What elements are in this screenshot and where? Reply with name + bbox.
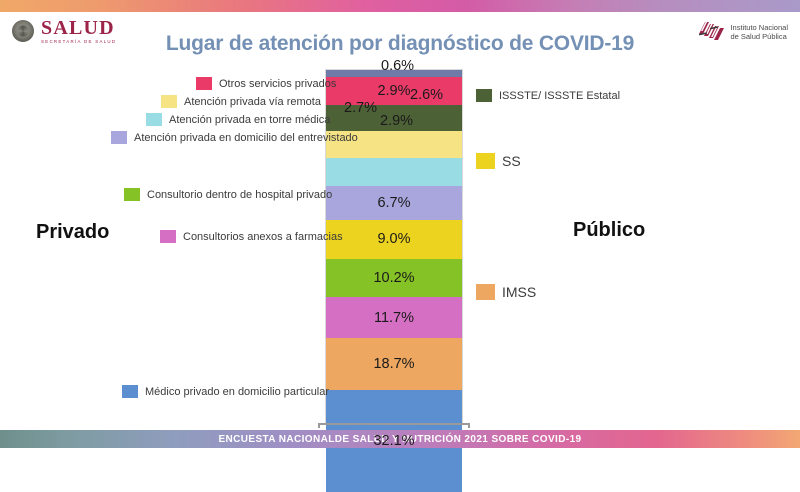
legend-swatch-atencion-remota xyxy=(161,95,177,108)
axis-baseline xyxy=(318,423,470,425)
legend-swatch-ss xyxy=(476,153,495,169)
legend-swatch-issste xyxy=(476,89,492,102)
bar-value-imss: 18.7% xyxy=(373,356,414,372)
legend-label-imss: IMSS xyxy=(502,284,536,300)
bar-segment-imss[interactable]: 18.7% xyxy=(326,338,462,389)
legend-swatch-hospital-privado xyxy=(124,188,140,201)
bar-value-medico-privado-domicilio: 32.1% xyxy=(373,433,414,449)
bar-segment-hospital-privado[interactable]: 10.2% xyxy=(326,259,462,298)
bar-value-anexos-farmacias: 11.7% xyxy=(374,310,414,326)
top-gradient-strip xyxy=(0,0,800,12)
bar-value-hospital-privado: 10.2% xyxy=(373,270,414,286)
legend-item-medico-privado-domicilio[interactable]: Médico privado en domicilio particular xyxy=(122,385,329,398)
legend-item-torre-medica[interactable]: Atención privada en torre médica xyxy=(146,113,330,126)
group-label-publico: Público xyxy=(573,219,645,242)
legend-label-torre-medica: Atención privada en torre médica xyxy=(169,114,330,126)
bar-segment-domicilio-entrevistado[interactable]: 6.7% xyxy=(326,186,462,220)
insp-logo-mark-icon xyxy=(698,20,724,44)
bar-value-issste: 2.6% xyxy=(410,87,443,103)
bar-value-otro: 0.6% xyxy=(381,58,414,74)
insp-logo: Instituto Nacional de Salud Pública xyxy=(698,20,788,44)
bar-segment-torre-medica[interactable] xyxy=(326,158,462,186)
legend-item-anexos-farmacias[interactable]: Consultorios anexos a farmacias xyxy=(160,230,343,243)
legend-swatch-domicilio-entrevistado xyxy=(111,131,127,144)
legend-item-issste[interactable]: ISSSTE/ ISSSTE Estatal xyxy=(476,89,620,102)
group-label-privado: Privado xyxy=(36,221,109,244)
insp-logo-text: Instituto Nacional de Salud Pública xyxy=(730,23,788,42)
legend-swatch-imss xyxy=(476,284,495,300)
legend-label-ss: SS xyxy=(502,153,521,169)
legend-swatch-otros-servicios-privados xyxy=(196,77,212,90)
slide-header: SALUD SECRETARÍA DE SALUD Lugar de atenc… xyxy=(0,12,800,54)
legend-item-hospital-privado[interactable]: Consultorio dentro de hospital privado xyxy=(124,188,332,201)
legend-item-otros-servicios-privados[interactable]: Otros servicios privados xyxy=(196,77,336,90)
legend-item-atencion-remota[interactable]: Atención privada vía remota xyxy=(161,95,321,108)
bar-value-domicilio-entrevistado: 6.7% xyxy=(377,195,410,211)
bar-value-ss: 9.0% xyxy=(377,231,410,247)
axis-tick-right xyxy=(468,423,470,428)
legend-swatch-torre-medica xyxy=(146,113,162,126)
legend-label-atencion-remota: Atención privada vía remota xyxy=(184,96,321,108)
legend-swatch-anexos-farmacias xyxy=(160,230,176,243)
bar-value-otros-servicios-privados: 2.9% xyxy=(377,83,410,99)
chart-area: Privado Público 2.9% 6.7% 9.0% 10.2% 11.… xyxy=(0,56,800,426)
legend-swatch-medico-privado-domicilio xyxy=(122,385,138,398)
legend-label-otros-servicios-privados: Otros servicios privados xyxy=(219,78,336,90)
axis-tick-left xyxy=(318,423,320,428)
bar-segment-ss[interactable]: 9.0% xyxy=(326,220,462,259)
bar-value-atencion-remota: 2.7% xyxy=(344,100,377,116)
insp-logo-line2: de Salud Pública xyxy=(730,32,788,41)
legend-label-issste: ISSSTE/ ISSSTE Estatal xyxy=(499,90,620,102)
legend-item-imss[interactable]: IMSS xyxy=(476,284,536,300)
page-title: Lugar de atención por diagnóstico de COV… xyxy=(0,32,800,56)
legend-label-domicilio-entrevistado: Atención privada en domicilio del entrev… xyxy=(134,132,358,144)
legend-item-ss[interactable]: SS xyxy=(476,153,521,169)
insp-logo-line1: Instituto Nacional xyxy=(730,23,788,32)
legend-label-hospital-privado: Consultorio dentro de hospital privado xyxy=(147,189,332,201)
bar-value-torre-medica: 2.9% xyxy=(380,113,413,129)
legend-label-anexos-farmacias: Consultorios anexos a farmacias xyxy=(183,231,343,243)
legend-item-domicilio-entrevistado[interactable]: Atención privada en domicilio del entrev… xyxy=(111,131,358,144)
legend-label-medico-privado-domicilio: Médico privado en domicilio particular xyxy=(145,386,329,398)
bar-segment-anexos-farmacias[interactable]: 11.7% xyxy=(326,297,462,338)
